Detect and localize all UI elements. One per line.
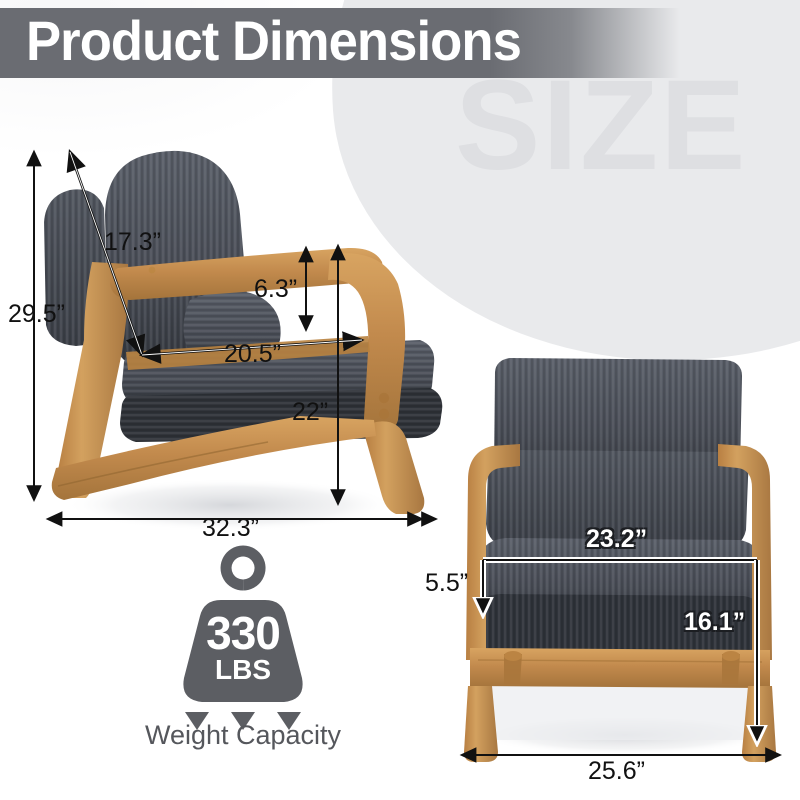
front-wood-frame xyxy=(464,444,776,762)
side-wood-frame xyxy=(52,248,425,514)
watermark-text: SIZE xyxy=(455,62,748,190)
dimension-label-height: 29.5” xyxy=(8,300,65,329)
weight-value: 330 xyxy=(108,606,378,660)
chair-front-view xyxy=(464,358,776,762)
dimension-label-arm-height: 22” xyxy=(292,398,328,427)
front-view-dimension-lines xyxy=(420,519,780,755)
side-seat-cushion xyxy=(120,340,442,442)
front-seat-cushion xyxy=(472,538,764,656)
dimension-label-seat-height-arm: 6.3” xyxy=(254,275,297,304)
front-backrest-cushion xyxy=(494,358,742,488)
weight-capacity-badge: 330 LBS Weight Capacity xyxy=(108,572,378,762)
dimension-label-seat-width: 23.2” xyxy=(586,525,647,554)
dimension-label-backrest: 17.3” xyxy=(104,228,161,257)
dimension-label-overall-width: 25.6” xyxy=(588,757,645,786)
infographic-canvas: SIZE Product Dimensions xyxy=(0,0,800,800)
side-backrest-cushion xyxy=(105,151,250,368)
weight-unit: LBS xyxy=(108,654,378,686)
dimension-label-seat-height: 16.1” xyxy=(684,608,745,637)
dimension-label-overall-depth: 32.3” xyxy=(202,514,259,543)
page-title: Product Dimensions xyxy=(26,10,521,72)
weight-capacity-caption: Weight Capacity xyxy=(103,720,383,751)
dimension-label-seat-depth: 20.5” xyxy=(224,340,281,369)
dimension-label-cushion-thickness: 5.5” xyxy=(425,569,468,598)
